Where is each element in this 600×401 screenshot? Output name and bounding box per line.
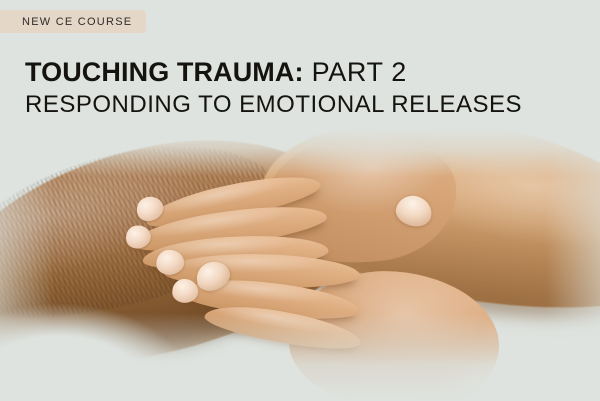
- course-headline: TOUCHING TRAUMA: PART 2 RESPONDING TO EM…: [25, 57, 522, 118]
- headline-course-part: PART 2: [304, 57, 407, 87]
- lower-hand: [145, 241, 485, 401]
- new-course-badge: NEW CE COURSE: [0, 10, 146, 33]
- lower-hand-nail-2: [172, 279, 198, 303]
- headline-course-title: TOUCHING TRAUMA:: [25, 57, 304, 87]
- headline-line-1: TOUCHING TRAUMA: PART 2: [25, 57, 522, 87]
- course-promo-banner: NEW CE COURSE TOUCHING TRAUMA: PART 2 RE…: [0, 0, 600, 401]
- new-course-badge-label: NEW CE COURSE: [22, 16, 132, 28]
- headline-line-2: RESPONDING TO EMOTIONAL RELEASES: [25, 91, 522, 118]
